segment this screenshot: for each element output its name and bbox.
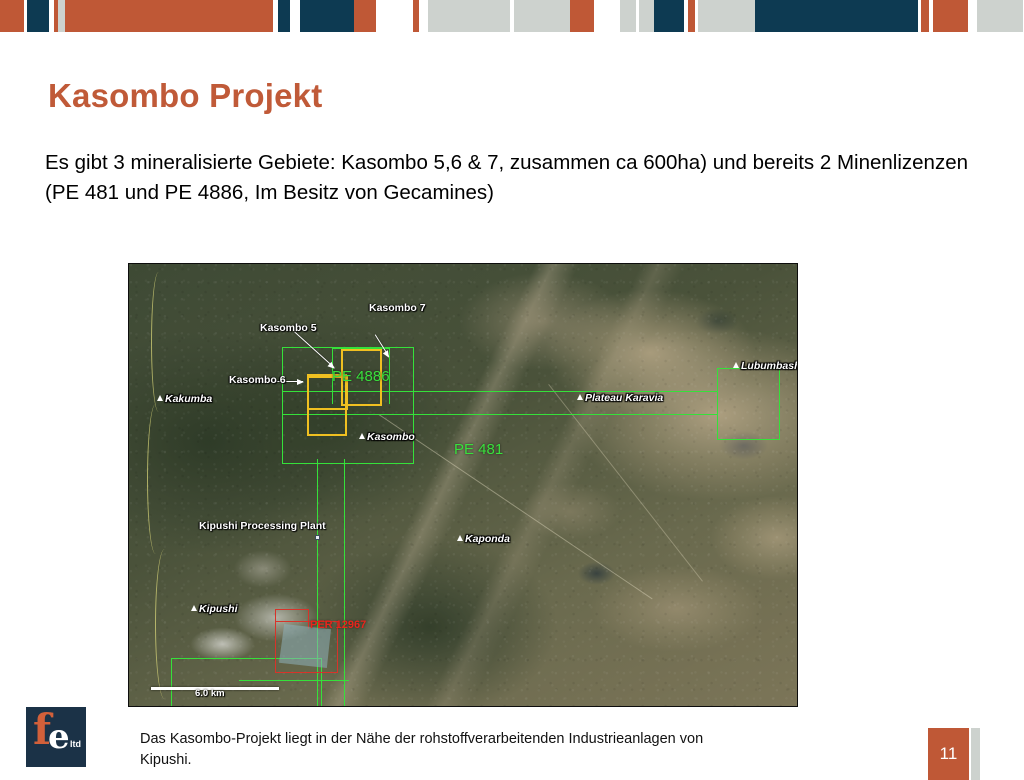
stripe-segment-14 xyxy=(419,0,428,32)
map-scale-bar: 6.0 km xyxy=(129,264,797,706)
stripe-segment-19 xyxy=(594,0,620,32)
company-logo: f e ltd xyxy=(26,707,86,767)
page-title: Kasombo Projekt xyxy=(48,77,322,115)
stripe-segment-15 xyxy=(428,0,510,32)
map-caption: Das Kasombo-Projekt liegt in der Nähe de… xyxy=(140,729,740,771)
page-number-accent-strip xyxy=(971,728,980,780)
stripe-segment-23 xyxy=(654,0,684,32)
page-number-badge: 11 xyxy=(928,728,969,780)
stripe-segment-11 xyxy=(354,0,376,32)
stripe-segment-25 xyxy=(688,0,695,32)
stripe-segment-0 xyxy=(0,0,24,32)
stripe-segment-34 xyxy=(977,0,1023,32)
stripe-segment-17 xyxy=(514,0,570,32)
top-decorative-stripe-bar xyxy=(0,0,1024,32)
stripe-segment-5 xyxy=(58,0,65,32)
satellite-map-figure: Kasombo 7 Kasombo 5 Kasombo 6 Kipushi Pr… xyxy=(128,263,798,707)
stripe-segment-27 xyxy=(698,0,755,32)
stripe-segment-33 xyxy=(968,0,977,32)
stripe-segment-10 xyxy=(300,0,354,32)
stripe-segment-12 xyxy=(376,0,413,32)
logo-mark: f e ltd xyxy=(29,714,83,760)
stripe-segment-18 xyxy=(570,0,594,32)
stripe-segment-22 xyxy=(639,0,654,32)
stripe-segment-20 xyxy=(620,0,636,32)
stripe-segment-30 xyxy=(921,0,929,32)
stripe-segment-32 xyxy=(933,0,968,32)
scale-bar-line xyxy=(151,687,279,690)
stripe-segment-8 xyxy=(278,0,290,32)
stripe-segment-28 xyxy=(755,0,918,32)
logo-letter-e: e xyxy=(48,720,70,754)
stripe-segment-2 xyxy=(27,0,49,32)
logo-suffix-ltd: ltd xyxy=(70,740,81,749)
stripe-segment-9 xyxy=(290,0,300,32)
stripe-segment-6 xyxy=(65,0,273,32)
body-paragraph: Es gibt 3 mineralisierte Gebiete: Kasomb… xyxy=(45,148,975,208)
